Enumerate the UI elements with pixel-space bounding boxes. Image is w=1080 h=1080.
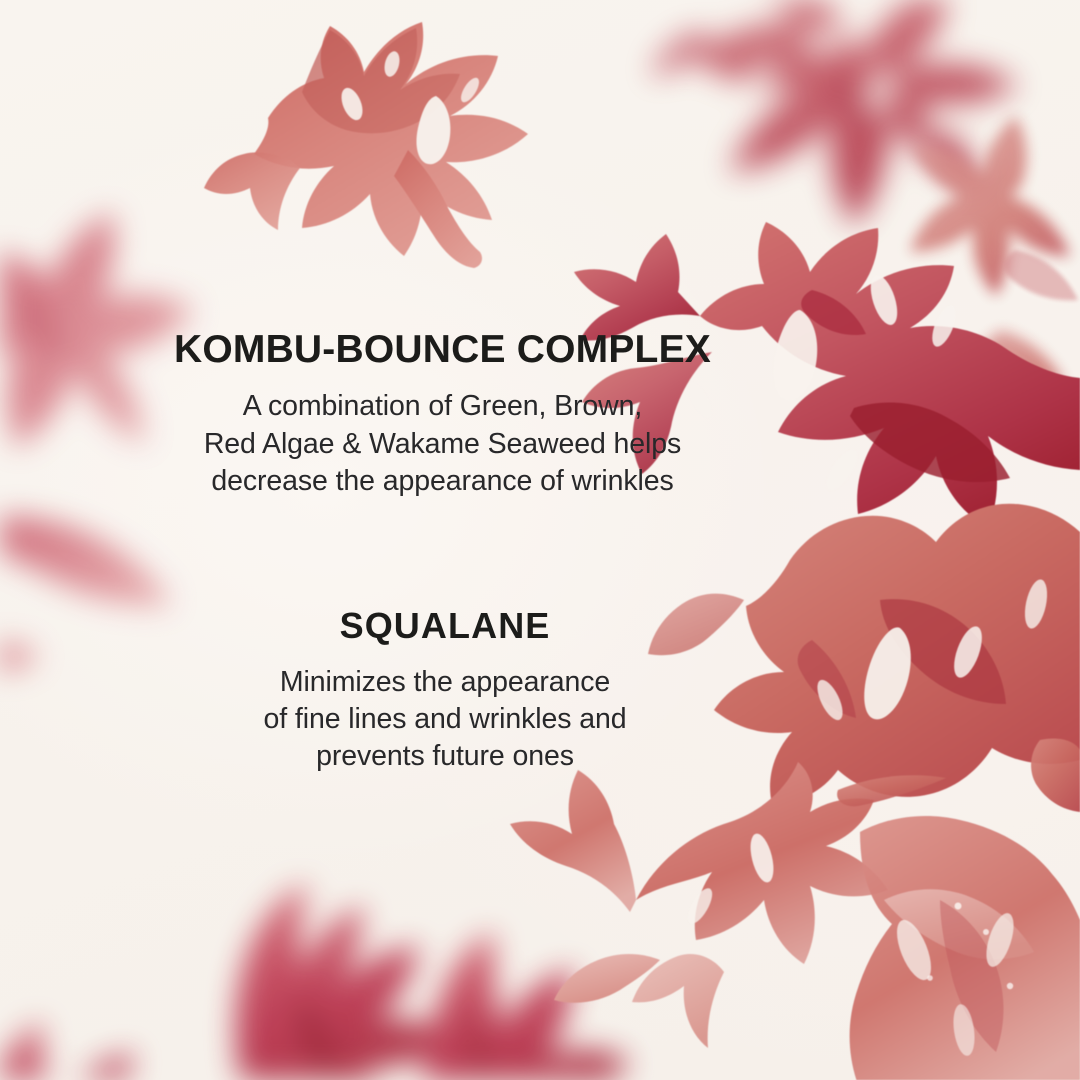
squalane-body: Minimizes the appearance of fine lines a… <box>140 664 750 775</box>
squalane-body-line-3: prevents future ones <box>140 738 750 775</box>
kombu-body-line-1: A combination of Green, Brown, <box>110 388 775 425</box>
kombu-body: A combination of Green, Brown, Red Algae… <box>110 388 775 499</box>
squalane-body-line-2: of fine lines and wrinkles and <box>140 701 750 738</box>
squalane-body-line-1: Minimizes the appearance <box>140 664 750 701</box>
kombu-body-line-2: Red Algae & Wakame Seaweed helps <box>110 426 775 463</box>
copy-stack: KOMBU-BOUNCE COMPLEX A combination of Gr… <box>0 0 1080 1080</box>
kombu-heading: KOMBU-BOUNCE COMPLEX <box>110 328 775 372</box>
benefit-block-squalane: SQUALANE Minimizes the appearance of fin… <box>140 605 750 775</box>
benefit-block-kombu: KOMBU-BOUNCE COMPLEX A combination of Gr… <box>110 328 775 500</box>
squalane-heading-line-1: SQUALANE <box>340 605 551 646</box>
kombu-heading-line-1: KOMBU-BOUNCE <box>174 328 506 371</box>
kombu-heading-line-2: COMPLEX <box>517 328 711 371</box>
kombu-body-line-3: decrease the appearance of wrinkles <box>110 463 775 500</box>
ingredient-benefits-card: KOMBU-BOUNCE COMPLEX A combination of Gr… <box>0 0 1080 1080</box>
squalane-heading: SQUALANE <box>140 605 750 646</box>
